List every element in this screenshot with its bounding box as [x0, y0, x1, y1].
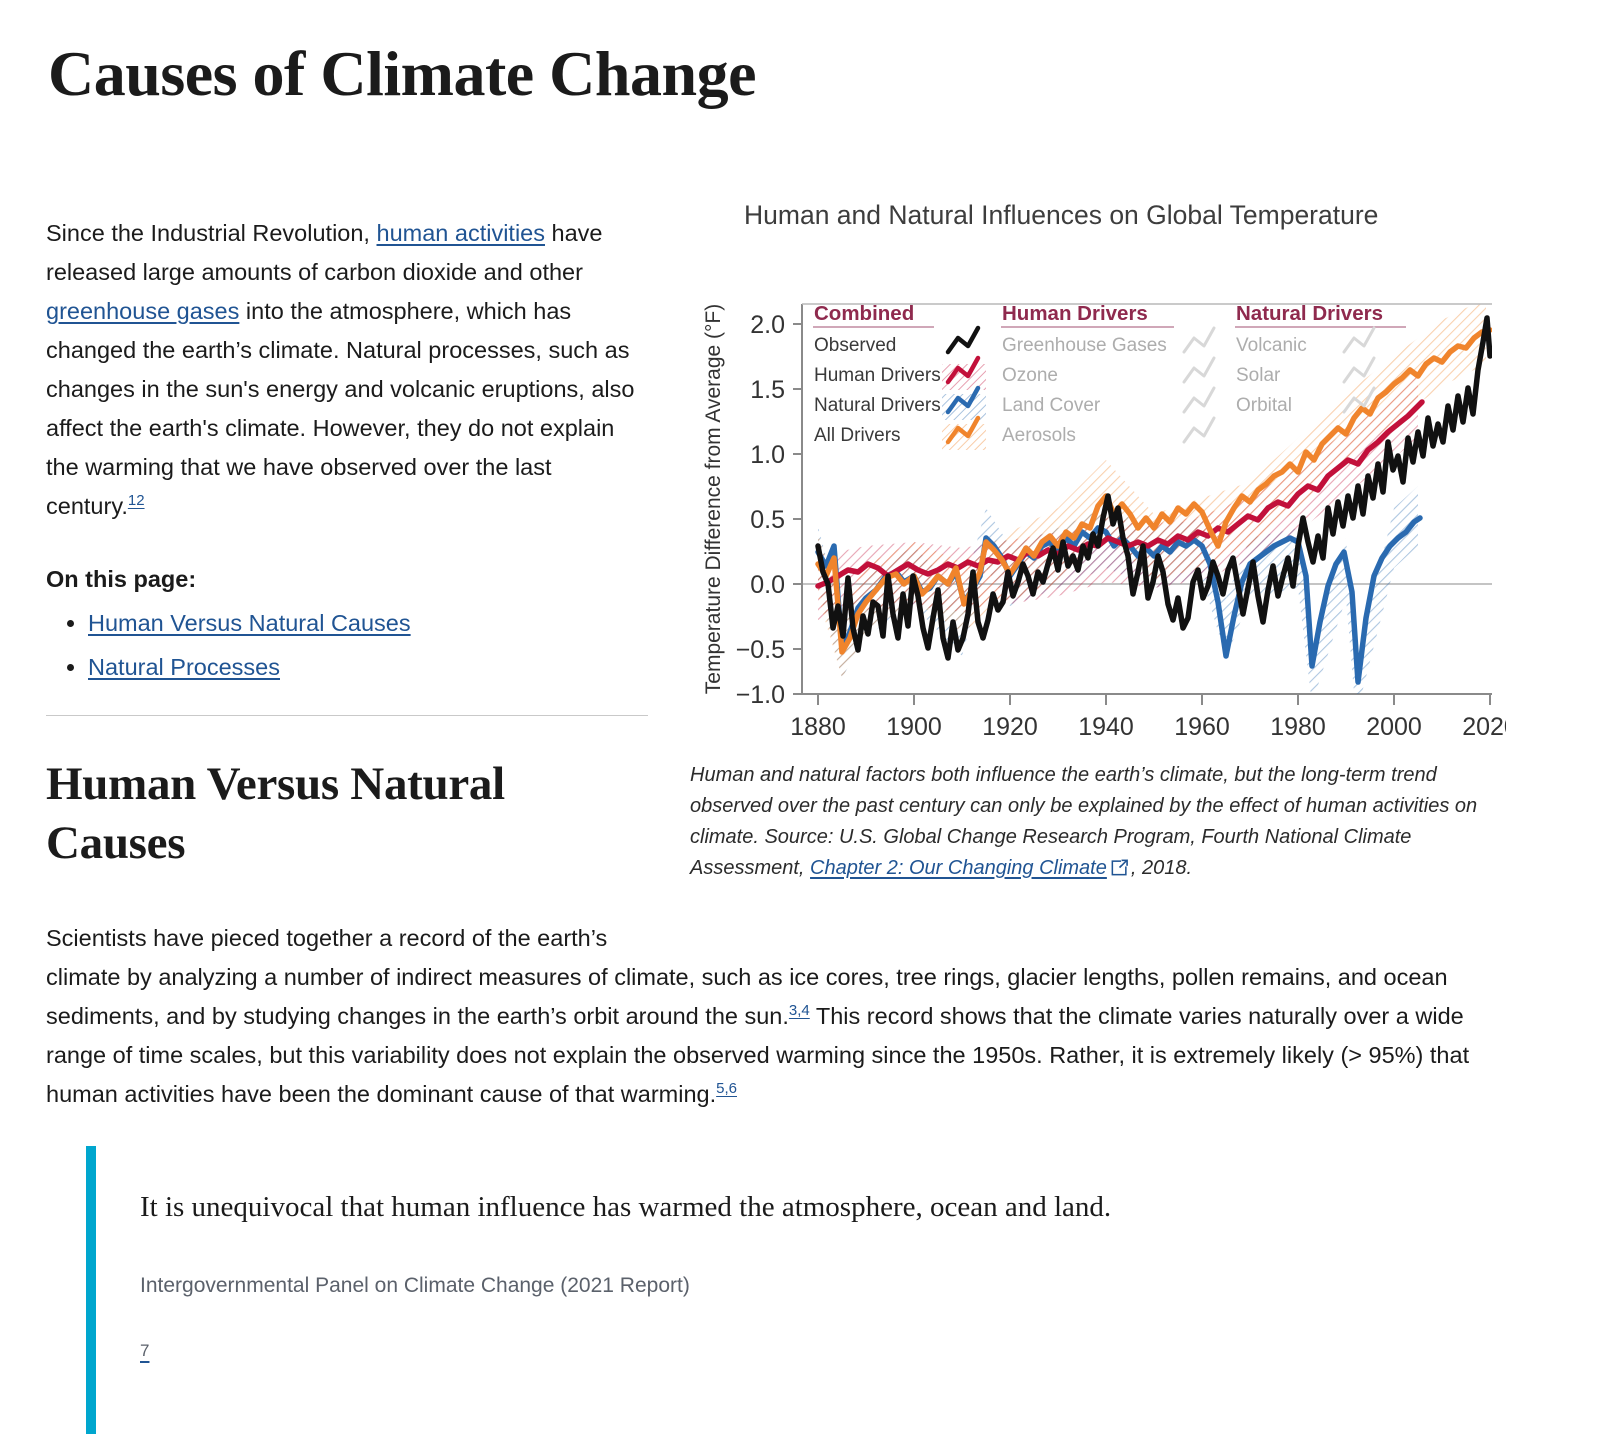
legend-label-human-drivers: Human Drivers	[814, 365, 941, 386]
y-axis-ticks: 2.0 1.5 1.0 0.5 0.0 −0.5 −1.0	[736, 311, 802, 709]
intro-text-3: into the atmosphere, which has changed t…	[46, 298, 634, 519]
link-human-activities[interactable]: human activities	[377, 220, 546, 246]
legend-label-aerosols: Aerosols	[1002, 425, 1076, 446]
legend-label-all-drivers: All Drivers	[814, 425, 901, 446]
legend-label-orbital: Orbital	[1236, 395, 1292, 416]
figure-human-natural-influences: Human and Natural Influences on Global T…	[686, 200, 1506, 886]
x-tick-label: 1980	[1270, 713, 1326, 741]
toc-link-natural-processes[interactable]: Natural Processes	[88, 654, 280, 680]
footnote-ref-12[interactable]: 12	[128, 492, 145, 509]
body-line-1: Scientists have pieced together a record…	[46, 919, 1514, 958]
legend-label-land-cover: Land Cover	[1002, 395, 1101, 416]
legend-header-combined: Combined	[814, 302, 914, 325]
legend-label-natural-drivers: Natural Drivers	[814, 395, 941, 416]
y-tick-label: 1.0	[750, 441, 785, 469]
quote-attribution: Intergovernmental Panel on Climate Chang…	[140, 1271, 1546, 1300]
quote-text: It is unequivocal that human influence h…	[140, 1188, 1546, 1227]
y-axis-title: Temperature Difference from Average (°F)	[702, 304, 725, 694]
intro-text-1: Since the Industrial Revolution,	[46, 220, 377, 246]
quote-footnote-ref-link[interactable]: 7	[140, 1341, 149, 1360]
footnote-ref-34[interactable]: 3,4	[789, 1002, 810, 1019]
external-link-icon	[1111, 855, 1129, 886]
y-tick-label: 0.5	[750, 506, 785, 534]
footnote-ref-12-link[interactable]: 12	[128, 492, 145, 509]
article-page: Causes of Climate Change Since the Indus…	[0, 0, 1600, 1449]
chart-canvas: 2.0 1.5 1.0 0.5 0.0 −0.5 −1.0	[686, 246, 1506, 746]
on-this-page-list: Human Versus Natural Causes Natural Proc…	[46, 601, 646, 689]
x-tick-label: 1880	[790, 713, 846, 741]
list-item: Human Versus Natural Causes	[88, 601, 646, 645]
x-tick-label: 1940	[1078, 713, 1134, 741]
x-tick-label: 2000	[1366, 713, 1422, 741]
footnote-ref-34-link[interactable]: 3,4	[789, 1002, 810, 1019]
footnote-ref-56-link[interactable]: 5,6	[716, 1080, 737, 1097]
line-chart: 2.0 1.5 1.0 0.5 0.0 −0.5 −1.0	[686, 246, 1506, 746]
intro-column: Since the Industrial Revolution, human a…	[46, 214, 646, 689]
page-title: Causes of Climate Change	[48, 40, 756, 107]
legend-label-solar: Solar	[1236, 365, 1281, 386]
y-tick-label: 2.0	[750, 311, 785, 339]
link-greenhouse-gases[interactable]: greenhouse gases	[46, 298, 239, 324]
y-tick-label: 1.5	[750, 376, 785, 404]
chart-title: Human and Natural Influences on Global T…	[686, 200, 1506, 232]
y-tick-label: 0.0	[750, 571, 785, 599]
x-tick-label: 1960	[1174, 713, 1230, 741]
x-tick-label: 2020	[1462, 713, 1506, 741]
caption-source-link[interactable]: Chapter 2: Our Changing Climate	[810, 857, 1107, 879]
legend-label-volcanic: Volcanic	[1236, 335, 1307, 356]
legend-label-greenhouse-gases: Greenhouse Gases	[1002, 335, 1167, 356]
x-tick-label: 1920	[982, 713, 1038, 741]
figure-caption: Human and natural factors both influence…	[686, 760, 1502, 886]
intro-paragraph: Since the Industrial Revolution, human a…	[46, 214, 646, 526]
caption-text-2: , 2018.	[1131, 857, 1192, 879]
x-tick-label: 1900	[886, 713, 942, 741]
legend-label-ozone: Ozone	[1002, 365, 1058, 386]
y-tick-label: −0.5	[736, 636, 785, 664]
on-this-page: On this page: Human Versus Natural Cause…	[46, 561, 646, 689]
section-divider	[46, 715, 648, 716]
quote-footnote-ref[interactable]: 7	[140, 1341, 1546, 1361]
x-axis-ticks: 1880 1900 1920 1940 1960 1980 2000 2020	[790, 694, 1506, 741]
body-paragraph: Scientists have pieced together a record…	[46, 919, 1514, 1114]
legend-header-human-drivers: Human Drivers	[1002, 302, 1148, 325]
y-tick-label: −1.0	[736, 681, 785, 709]
section-heading-human-versus-natural-causes: Human Versus Natural Causes	[46, 755, 646, 873]
footnote-ref-56[interactable]: 5,6	[716, 1080, 737, 1097]
pull-quote: It is unequivocal that human influence h…	[86, 1146, 1546, 1434]
list-item: Natural Processes	[88, 645, 646, 689]
legend-label-observed: Observed	[814, 335, 896, 356]
legend-header-natural-drivers: Natural Drivers	[1236, 302, 1383, 325]
toc-link-human-versus-natural-causes[interactable]: Human Versus Natural Causes	[88, 610, 411, 636]
on-this-page-label: On this page:	[46, 561, 646, 597]
